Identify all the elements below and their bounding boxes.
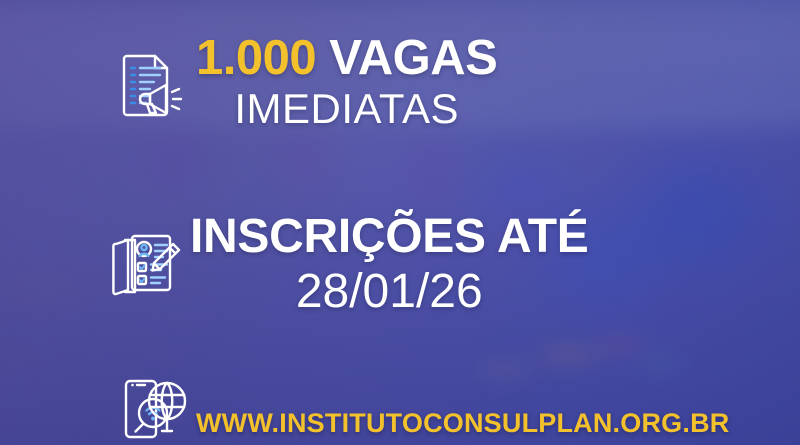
vacancies-subline: IMEDIATAS: [196, 87, 497, 132]
vacancies-row: 1.000 VAGAS IMEDIATAS: [104, 34, 497, 132]
promo-banner: 1.000 VAGAS IMEDIATAS: [0, 0, 800, 445]
vacancies-texts: 1.000 VAGAS IMEDIATAS: [196, 34, 497, 132]
registration-form-pencil-icon: [98, 219, 190, 311]
registration-texts: INSCRIÇÕES ATÉ 28/01/26: [190, 213, 589, 318]
registration-deadline-date: 28/01/26: [190, 267, 589, 318]
website-row: WWW.INSTITUTOCONSULPLAN.ORG.BR: [104, 372, 729, 444]
registration-headline: INSCRIÇÕES ATÉ: [190, 213, 589, 261]
document-megaphone-icon: [104, 37, 196, 129]
website-url[interactable]: WWW.INSTITUTOCONSULPLAN.ORG.BR: [196, 408, 729, 439]
vacancies-headline: 1.000 VAGAS: [196, 34, 497, 83]
smartphone-globe-wifi-icon: [104, 372, 196, 444]
vacancies-word: VAGAS: [329, 31, 497, 85]
banner-content: 1.000 VAGAS IMEDIATAS: [0, 0, 800, 445]
vacancies-number: 1.000: [196, 31, 316, 85]
registration-row: INSCRIÇÕES ATÉ 28/01/26: [98, 213, 589, 318]
